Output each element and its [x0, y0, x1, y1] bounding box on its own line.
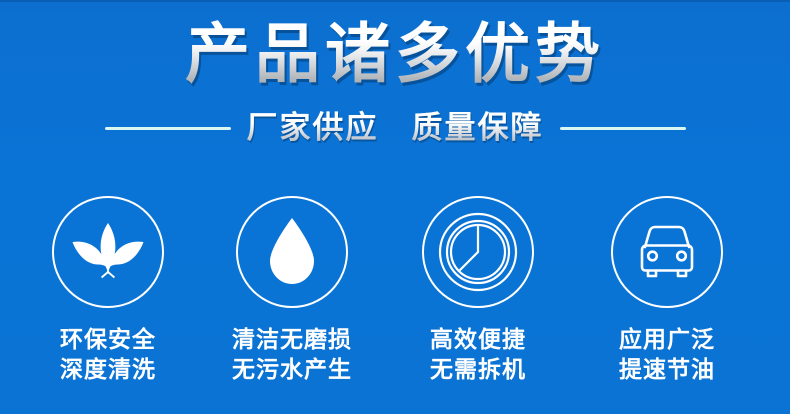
feature-label-line2: 无污水产生 — [197, 354, 387, 384]
feature-label-line1: 环保安全 — [13, 324, 203, 354]
leaves-icon — [71, 221, 145, 283]
rule-right — [560, 127, 686, 130]
feature-label-line1: 应用广泛 — [572, 324, 762, 354]
subtitle-row: 厂家供应 质量保障 — [0, 107, 790, 149]
feature-label-eco: 环保安全 深度清洗 — [13, 324, 203, 384]
page-title: 产品诸多优势 — [185, 14, 605, 94]
feature-label-line1: 高效便捷 — [383, 324, 573, 354]
feature-label-line1: 清洁无磨损 — [197, 324, 387, 354]
rule-left — [105, 127, 231, 130]
car-icon — [632, 222, 702, 282]
promo-banner: 产品诸多优势 厂家供应 质量保障 — [0, 0, 790, 414]
title-container: 产品诸多优势 — [0, 14, 790, 94]
icon-circle-efficient — [422, 196, 534, 308]
feature-item-eco: 环保安全 深度清洗 — [13, 196, 203, 384]
feature-label-line2: 提速节油 — [572, 354, 762, 384]
feature-item-versatile: 应用广泛 提速节油 — [572, 196, 762, 384]
feature-label-line2: 无需拆机 — [383, 354, 573, 384]
page-subtitle: 厂家供应 质量保障 — [247, 107, 544, 149]
feature-label-line2: 深度清洗 — [13, 354, 203, 384]
feature-item-clean: 清洁无磨损 无污水产生 — [197, 196, 387, 384]
feature-label-efficient: 高效便捷 无需拆机 — [383, 324, 573, 384]
feature-item-efficient: 高效便捷 无需拆机 — [383, 196, 573, 384]
icon-circle-eco — [52, 196, 164, 308]
feature-label-versatile: 应用广泛 提速节油 — [572, 324, 762, 384]
water-drop-icon — [267, 217, 317, 287]
icon-circle-versatile — [611, 196, 723, 308]
clock-icon — [438, 212, 518, 292]
feature-label-clean: 清洁无磨损 无污水产生 — [197, 324, 387, 384]
icon-circle-clean — [236, 196, 348, 308]
feature-list: 环保安全 深度清洗 清洁无磨损 无污水产生 — [0, 196, 790, 396]
